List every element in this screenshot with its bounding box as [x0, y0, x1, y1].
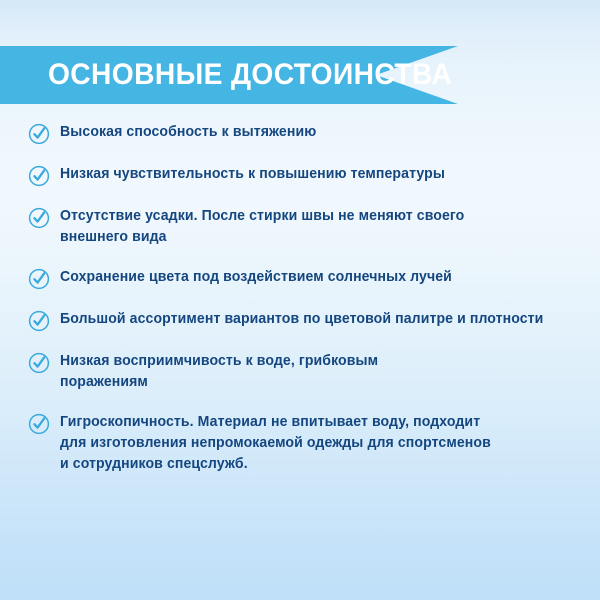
page-title: ОСНОВНЫЕ ДОСТОИНСТВА	[48, 46, 405, 104]
list-item-label: Гигроскопичность. Материал не впитывает …	[60, 412, 566, 475]
list-item: Низкая восприимчивость к воде, грибковым…	[28, 351, 584, 393]
check-circle-icon	[28, 268, 50, 290]
check-circle-icon	[28, 352, 50, 374]
list-item-label: Большой ассортимент вариантов по цветово…	[60, 309, 566, 330]
list-item: Гигроскопичность. Материал не впитывает …	[28, 412, 584, 475]
list-item-label: Низкая восприимчивость к воде, грибковым…	[60, 351, 566, 393]
list-item: Высокая способность к вытяжению	[28, 122, 584, 145]
check-circle-icon	[28, 207, 50, 229]
list-item-label: Отсутствие усадки. После стирки швы не м…	[60, 206, 566, 248]
list-item: Большой ассортимент вариантов по цветово…	[28, 309, 584, 332]
benefits-list: Высокая способность к вытяжению Низкая ч…	[28, 122, 584, 475]
list-item: Сохранение цвета под воздействием солнеч…	[28, 267, 584, 290]
check-circle-icon	[28, 413, 50, 435]
check-circle-icon	[28, 310, 50, 332]
list-item: Низкая чувствительность к повышению темп…	[28, 164, 584, 187]
poster-root: ОСНОВНЫЕ ДОСТОИНСТВА Высокая способность…	[0, 0, 600, 600]
list-item-label: Высокая способность к вытяжению	[60, 122, 566, 143]
list-item: Отсутствие усадки. После стирки швы не м…	[28, 206, 584, 248]
list-item-label: Низкая чувствительность к повышению темп…	[60, 164, 566, 185]
check-circle-icon	[28, 123, 50, 145]
check-circle-icon	[28, 165, 50, 187]
list-item-label: Сохранение цвета под воздействием солнеч…	[60, 267, 566, 288]
